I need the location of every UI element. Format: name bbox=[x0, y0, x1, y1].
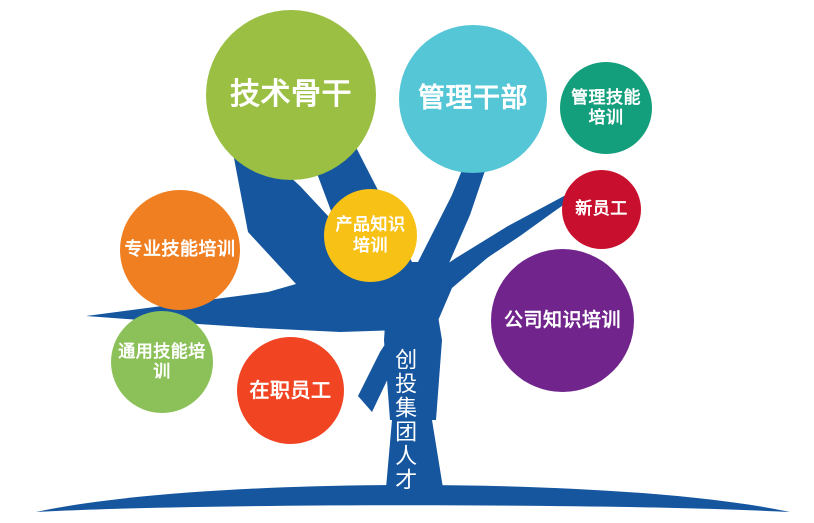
bubble-new-employee[interactable]: 新员工 bbox=[562, 170, 641, 249]
bubble-label-tech-backbone: 技术骨干 bbox=[206, 77, 376, 112]
talent-tree-infographic: 技术骨干 管理干部 管理技能培训 新员工 公司知识培训 专业技能培训 产品知识培… bbox=[0, 0, 814, 523]
bubble-tech-backbone[interactable]: 技术骨干 bbox=[206, 10, 376, 180]
bubble-label-management-skills-training: 管理技能培训 bbox=[560, 88, 652, 128]
bubble-management-cadre[interactable]: 管理干部 bbox=[399, 25, 547, 173]
bubble-label-professional-skills-training: 专业技能培训 bbox=[120, 239, 240, 260]
bubble-label-new-employee: 新员工 bbox=[562, 199, 641, 219]
bubble-company-knowledge-training[interactable]: 公司知识培训 bbox=[491, 249, 634, 392]
bubble-management-skills-training[interactable]: 管理技能培训 bbox=[560, 62, 652, 154]
bubble-current-employee[interactable]: 在职员工 bbox=[237, 337, 344, 444]
bubble-label-current-employee: 在职员工 bbox=[237, 379, 344, 403]
trunk-label: 创投集团人才 bbox=[392, 348, 415, 492]
bubble-product-knowledge-training[interactable]: 产品知识培训 bbox=[324, 189, 417, 282]
bubble-label-product-knowledge-training: 产品知识培训 bbox=[324, 215, 417, 255]
bubble-general-skills-training[interactable]: 通用技能培训 bbox=[111, 311, 213, 413]
bubble-professional-skills-training[interactable]: 专业技能培训 bbox=[120, 190, 240, 310]
bubble-label-company-knowledge-training: 公司知识培训 bbox=[491, 309, 634, 331]
bubble-label-general-skills-training: 通用技能培训 bbox=[111, 342, 213, 382]
bubble-label-management-cadre: 管理干部 bbox=[399, 83, 547, 115]
